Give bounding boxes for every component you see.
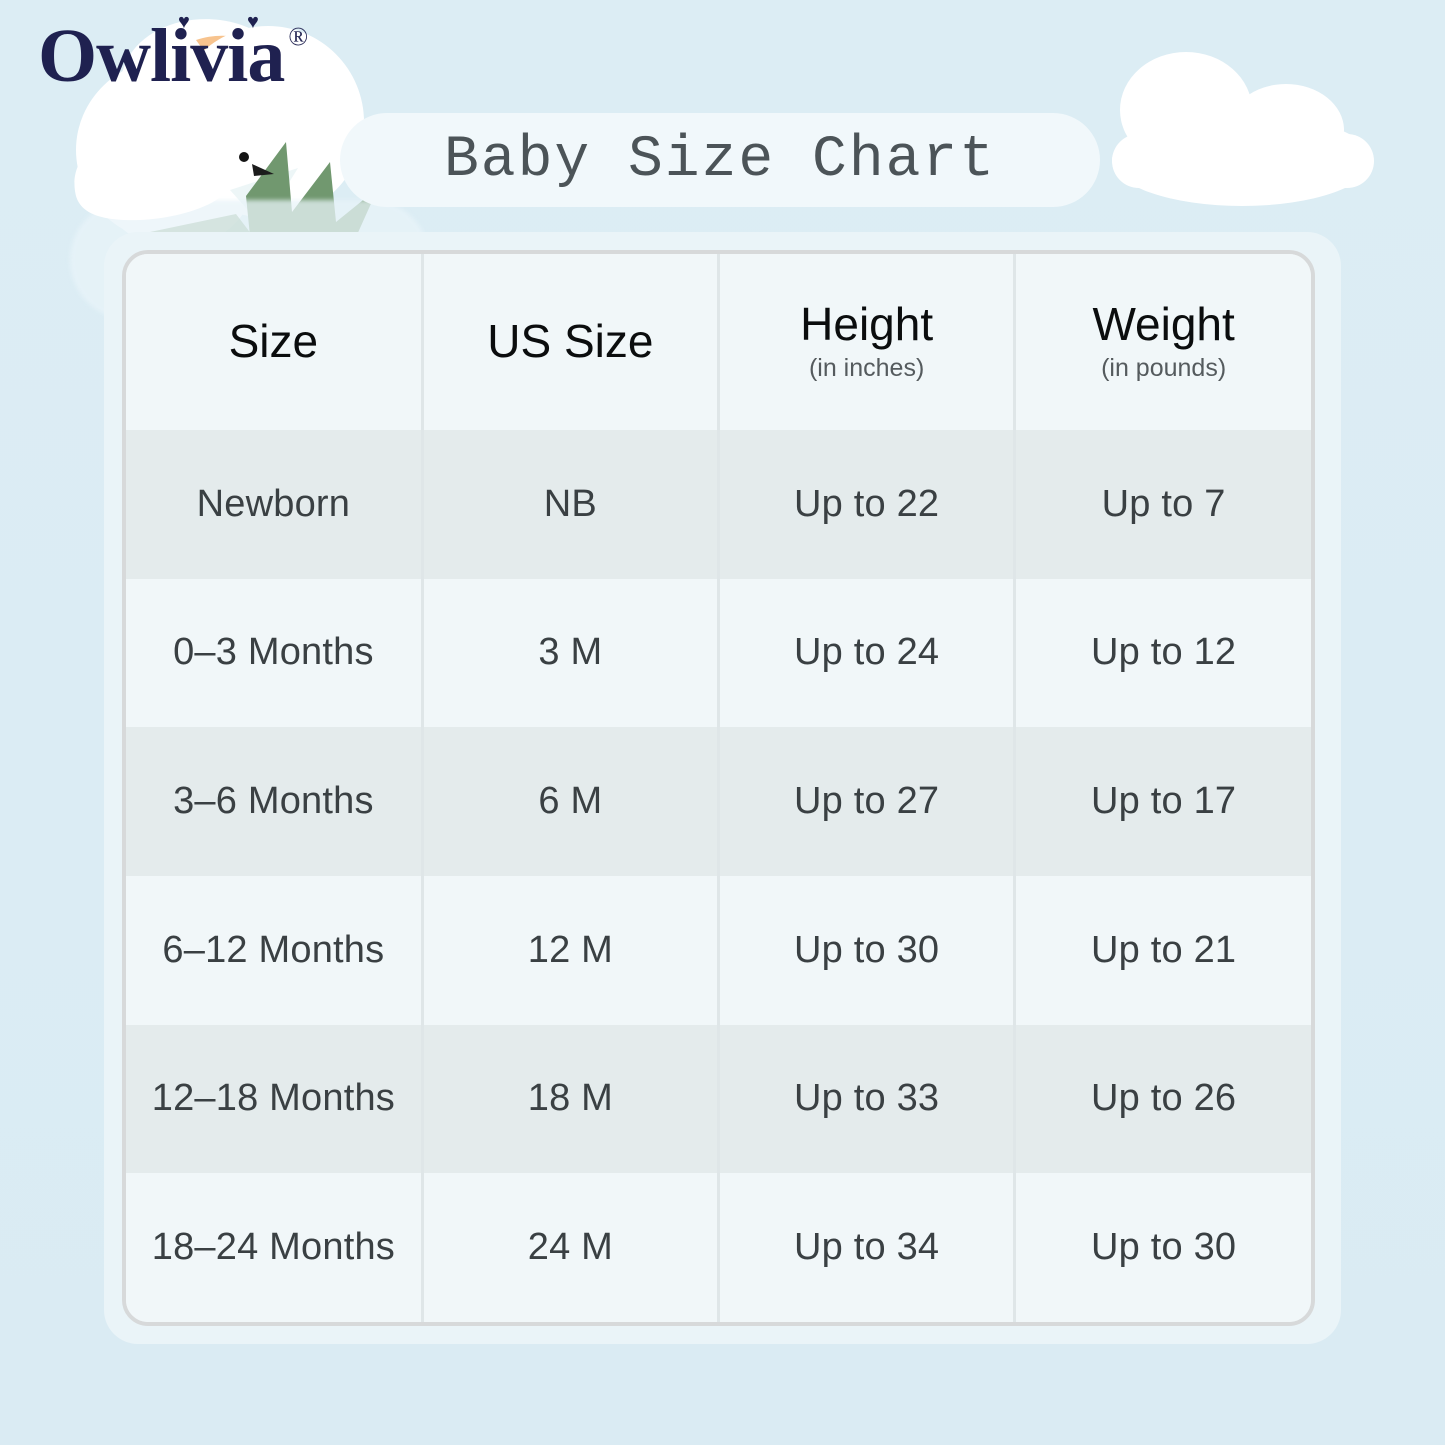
cell-us-size: 18 M	[422, 1025, 718, 1174]
table-row: 18–24 Months 24 M Up to 34 Up to 30	[126, 1173, 1311, 1322]
column-header-weight-label: Weight	[1016, 301, 1311, 349]
table-row: Newborn NB Up to 22 Up to 7	[126, 430, 1311, 579]
cell-us-size: 24 M	[422, 1173, 718, 1322]
table-row: 0–3 Months 3 M Up to 24 Up to 12	[126, 579, 1311, 728]
column-header-height-unit: (in inches)	[720, 355, 1013, 383]
column-header-height: Height (in inches)	[719, 254, 1015, 430]
heart-dot-icon-2: ♥	[247, 12, 258, 32]
column-header-weight: Weight (in pounds)	[1015, 254, 1311, 430]
cell-size: 12–18 Months	[126, 1025, 422, 1174]
page-title: Baby Size Chart	[444, 128, 996, 193]
cell-weight: Up to 17	[1015, 727, 1311, 876]
page-title-pill: Baby Size Chart	[340, 113, 1100, 207]
table-body: Newborn NB Up to 22 Up to 7 0–3 Months 3…	[126, 430, 1311, 1322]
cell-us-size: 6 M	[422, 727, 718, 876]
table-header: Size US Size Height (in inches) Weight (…	[126, 254, 1311, 430]
cell-us-size: 12 M	[422, 876, 718, 1025]
cell-weight: Up to 12	[1015, 579, 1311, 728]
cell-size: Newborn	[126, 430, 422, 579]
heart-dot-icon-1: ♥	[178, 12, 189, 32]
cell-weight: Up to 7	[1015, 430, 1311, 579]
cell-height: Up to 34	[719, 1173, 1015, 1322]
table-row: 6–12 Months 12 M Up to 30 Up to 21	[126, 876, 1311, 1025]
cell-us-size: 3 M	[422, 579, 718, 728]
cell-height: Up to 30	[719, 876, 1015, 1025]
cell-size: 3–6 Months	[126, 727, 422, 876]
cell-height: Up to 24	[719, 579, 1015, 728]
cell-weight: Up to 30	[1015, 1173, 1311, 1322]
column-header-weight-unit: (in pounds)	[1016, 355, 1311, 383]
size-chart-table-container: Size US Size Height (in inches) Weight (…	[122, 250, 1315, 1326]
cell-height: Up to 27	[719, 727, 1015, 876]
cloud-icon	[1046, 38, 1445, 218]
cell-height: Up to 33	[719, 1025, 1015, 1174]
cell-size: 18–24 Months	[126, 1173, 422, 1322]
column-header-size-label: Size	[126, 318, 421, 366]
table-row: 3–6 Months 6 M Up to 27 Up to 17	[126, 727, 1311, 876]
size-chart-page: Owlivia ♥ ♥ ® Baby Size Chart Size US Si…	[0, 0, 1445, 1445]
column-header-height-label: Height	[720, 301, 1013, 349]
column-header-us-size: US Size	[422, 254, 718, 430]
table-header-row: Size US Size Height (in inches) Weight (…	[126, 254, 1311, 430]
cell-us-size: NB	[422, 430, 718, 579]
cell-size: 6–12 Months	[126, 876, 422, 1025]
cell-height: Up to 22	[719, 430, 1015, 579]
column-header-size: Size	[126, 254, 422, 430]
cell-weight: Up to 26	[1015, 1025, 1311, 1174]
brand-logo: Owlivia ♥ ♥ ®	[38, 18, 308, 94]
cell-size: 0–3 Months	[126, 579, 422, 728]
registered-trademark-icon: ®	[288, 24, 308, 50]
column-header-us-size-label: US Size	[424, 318, 717, 366]
cell-weight: Up to 21	[1015, 876, 1311, 1025]
size-chart-table: Size US Size Height (in inches) Weight (…	[126, 254, 1311, 1322]
table-row: 12–18 Months 18 M Up to 33 Up to 26	[126, 1025, 1311, 1174]
brand-name: Owlivia ♥ ♥	[38, 18, 284, 94]
